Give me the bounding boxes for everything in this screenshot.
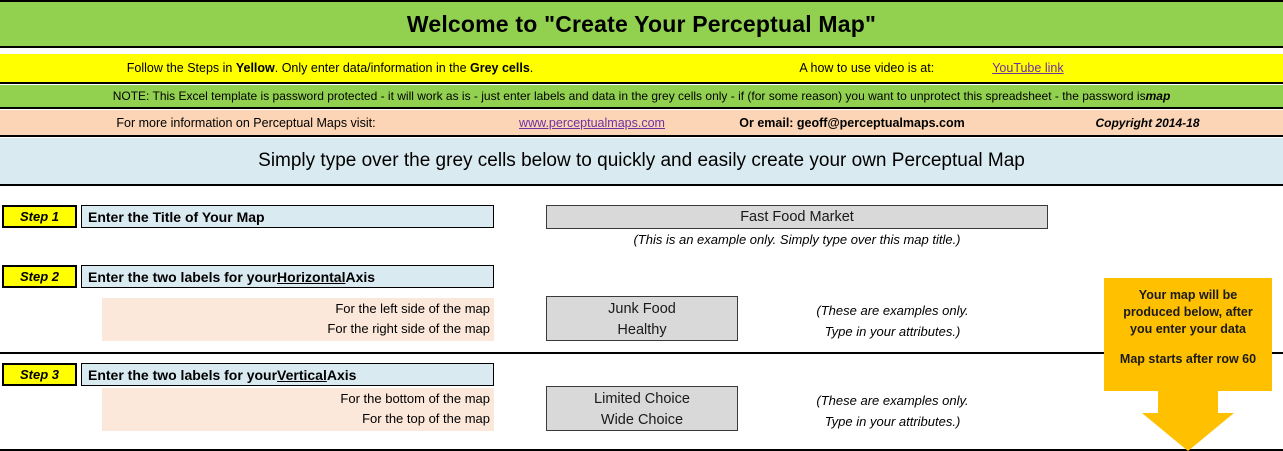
callout-line-3: you enter your data [1110,321,1266,338]
arrow-stem [1158,391,1218,413]
step-2-heading-underline: Horizontal [277,269,345,285]
follow-steps-text: Follow the Steps in Yellow. Only enter d… [0,61,660,75]
step-3-hint-top: For the top of the map [102,409,490,429]
step-1-heading: Enter the Title of Your Map [81,205,494,228]
title-banner: Welcome to "Create Your Perceptual Map" [0,2,1283,46]
video-help-group: A how to use video is at: YouTube link [660,61,1283,75]
step-2-hint-left: For the left side of the map [102,299,490,319]
instruction-bar: Follow the Steps in Yellow. Only enter d… [0,54,1283,82]
arrow-down-icon [1142,413,1234,451]
step-3-heading-before: Enter the two labels for your [88,367,277,383]
copyright-text: Copyright 2014-18 [1012,116,1283,130]
map-location-callout: Your map will be produced below, after y… [1104,278,1272,451]
step-1-badge: Step 1 [2,205,77,228]
step-3-hint-bottom: For the bottom of the map [102,389,490,409]
step-2-hint-right: For the right side of the map [102,319,490,339]
step-3-example-note-line2: Type in your attributes.) [760,411,1025,432]
divider-step2-bottom [0,352,1283,354]
vertical-axis-inputs[interactable]: Limited Choice Wide Choice [546,386,738,431]
follow-bold-grey: Grey cells [470,61,530,75]
contact-info-bar: For more information on Perceptual Maps … [0,110,1283,135]
website-link[interactable]: www.perceptualmaps.com [519,116,665,130]
callout-line-1: Your map will be [1110,287,1266,304]
vertical-top-input[interactable]: Wide Choice [547,410,737,431]
horizontal-axis-inputs[interactable]: Junk Food Healthy [546,296,738,341]
callout-body: Your map will be produced below, after y… [1104,278,1272,391]
horizontal-left-input[interactable]: Junk Food [547,299,737,320]
youtube-link[interactable]: YouTube link [992,61,1063,75]
divider-info-bottom [0,135,1283,137]
video-label: A how to use video is at: [799,61,934,75]
horizontal-right-input[interactable]: Healthy [547,320,737,341]
callout-row-note: Map starts after row 60 [1110,351,1266,368]
callout-line-2: produced below, after [1110,304,1266,321]
follow-middle: . Only enter data/information in the [275,61,470,75]
divider-yellow-bottom [0,82,1283,84]
step-3-example-note-line1: (These are examples only. [760,390,1025,411]
divider-title-bottom [0,46,1283,48]
map-title-input[interactable]: Fast Food Market [546,205,1048,229]
subtitle-banner: Simply type over the grey cells below to… [0,138,1283,184]
follow-prefix: Follow the Steps in [127,61,236,75]
step-2-badge: Step 2 [2,265,77,288]
vertical-bottom-input[interactable]: Limited Choice [547,389,737,410]
step-2-example-note: (These are examples only. Type in your a… [760,300,1025,342]
step-3-heading-after: Axis [327,367,357,383]
password-note-bar: NOTE: This Excel template is password pr… [0,85,1283,107]
note-password: map [1146,89,1171,103]
note-text: NOTE: This Excel template is password pr… [113,89,1146,103]
follow-suffix: . [530,61,533,75]
step-1-heading-text: Enter the Title of Your Map [88,209,265,225]
step-2-example-note-line1: (These are examples only. [760,300,1025,321]
step-3-hints: For the bottom of the map For the top of… [102,388,494,431]
page-title: Welcome to "Create Your Perceptual Map" [407,11,876,38]
email-text: Or email: geoff@perceptualmaps.com [692,116,1012,130]
more-info-label: For more information on Perceptual Maps … [0,116,492,130]
subtitle-text: Simply type over the grey cells below to… [258,150,1025,172]
step-1-example-note: (This is an example only. Simply type ov… [546,232,1048,247]
divider-note-bottom [0,107,1283,109]
step-3-example-note: (These are examples only. Type in your a… [760,390,1025,432]
step-2-heading-before: Enter the two labels for your [88,269,277,285]
step-2-heading-after: Axis [345,269,375,285]
website-link-cell[interactable]: www.perceptualmaps.com [492,116,692,130]
step-2-example-note-line2: Type in your attributes.) [760,321,1025,342]
step-2-hints: For the left side of the map For the rig… [102,298,494,341]
follow-bold-yellow: Yellow [236,61,275,75]
step-3-heading: Enter the two labels for your Vertical A… [81,363,494,386]
step-3-heading-underline: Vertical [277,367,327,383]
step-2-heading: Enter the two labels for your Horizontal… [81,265,494,288]
step-3-badge: Step 3 [2,363,77,386]
divider-subtitle-bottom [0,184,1283,186]
